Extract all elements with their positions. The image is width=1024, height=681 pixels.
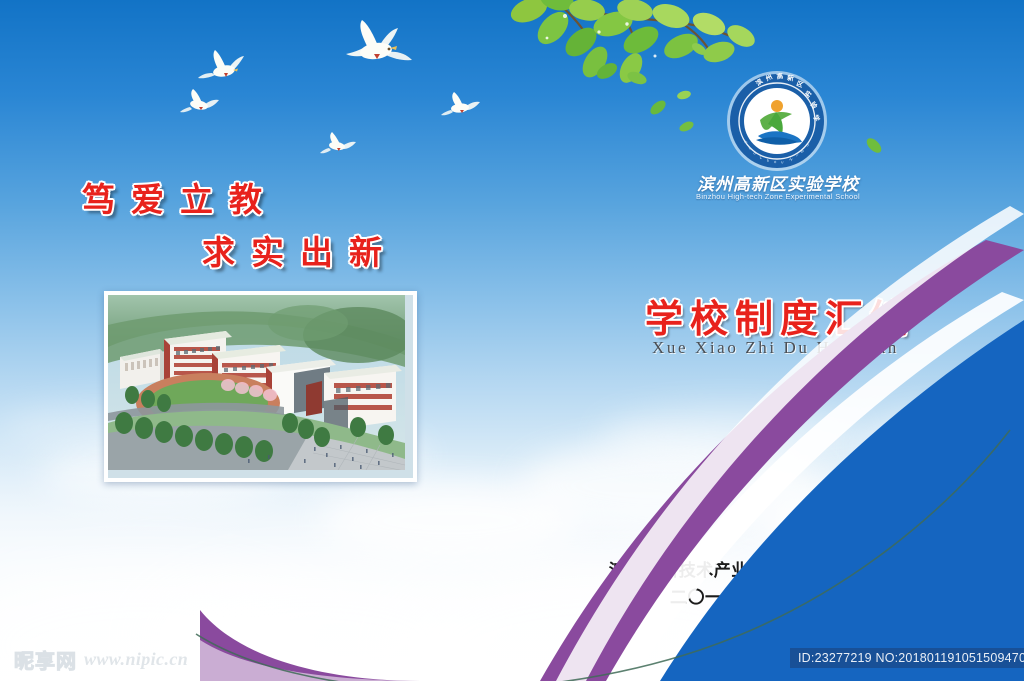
page-title: 学校制度汇编 bbox=[645, 288, 915, 343]
flying-dove bbox=[178, 86, 222, 118]
flying-dove bbox=[438, 88, 482, 122]
falling-leaf-icon bbox=[690, 42, 708, 61]
watermark-site-url: www.nipic.cn bbox=[84, 649, 188, 670]
flying-dove bbox=[318, 130, 358, 158]
flying-dove bbox=[196, 48, 248, 88]
school-logo: 滨 州 高 新 区 实 验 学 B i n z h o u H bbox=[688, 70, 868, 198]
handbook-cover: 笃爱立教 求实出新 滨 州 高 新 区 实 bbox=[0, 0, 1024, 681]
logo-school-name-en: Binzhou High-tech Zone Experimental Scho… bbox=[688, 192, 868, 201]
slogan-line-1: 笃爱立教 bbox=[82, 173, 278, 221]
campus-photo bbox=[108, 295, 413, 478]
falling-leaf-icon bbox=[626, 70, 648, 91]
slogan-line-2: 求实出新 bbox=[202, 226, 398, 274]
page-title-pinyin: Xue Xiao Zhi Du Hui Bian bbox=[652, 338, 899, 358]
school-emblem-icon: 滨 州 高 新 区 实 验 学 B i n z h o u H bbox=[726, 70, 828, 172]
publisher-organization: 滨州高新技术产业开发区实验学校 bbox=[0, 556, 1024, 581]
flying-dove bbox=[328, 18, 414, 80]
falling-leaf-icon bbox=[648, 100, 668, 120]
watermark-site-cn: 昵享网 bbox=[14, 645, 77, 674]
publisher-date: 二〇一七年十二月 bbox=[0, 583, 1024, 608]
falling-leaf-icon bbox=[595, 62, 619, 85]
campus-photo-frame bbox=[104, 291, 417, 482]
site-watermark: 昵享网 www.nipic.cn bbox=[14, 645, 188, 674]
asset-id-string: ID:23277219 NO:20180119105150947039 bbox=[790, 648, 1024, 668]
